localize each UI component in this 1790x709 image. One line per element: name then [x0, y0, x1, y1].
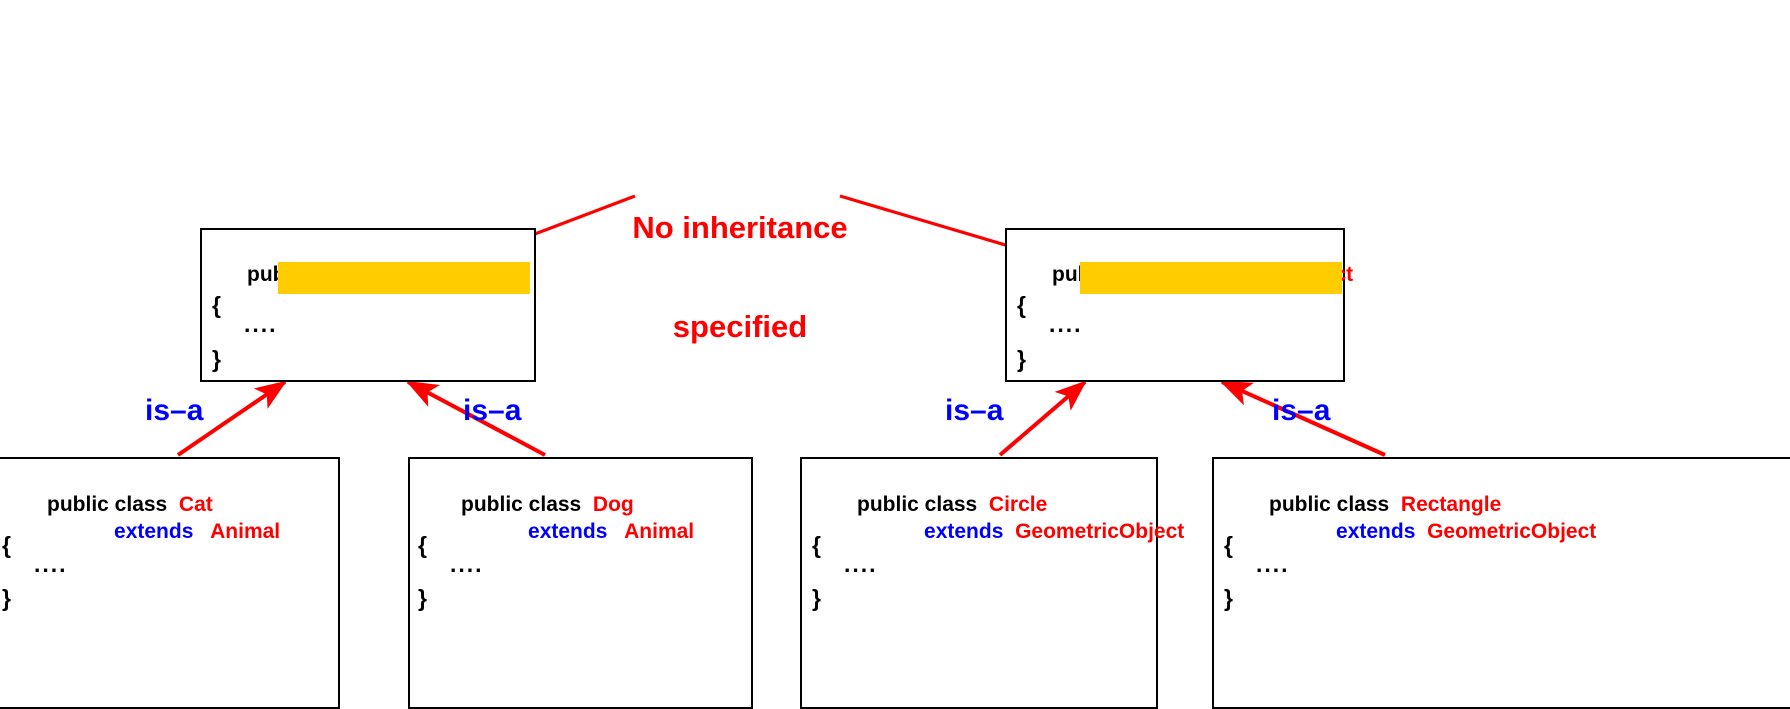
isa-label-cat: is–a: [145, 396, 203, 426]
cat-extends-name: Animal: [210, 520, 280, 543]
spacer: [1415, 520, 1427, 543]
rectangle-body-ellipsis: ....: [1256, 553, 1290, 576]
circle-open-brace: {: [812, 534, 821, 557]
rectangle-open-brace: {: [1224, 534, 1233, 557]
animal-close-brace: }: [212, 348, 221, 371]
annotation-line-1: No inheritance: [570, 211, 910, 244]
class-box-geometricobject[interactable]: public class GeometricObject { .... }: [1005, 228, 1345, 382]
dog-open-brace: {: [418, 534, 427, 557]
spacer: [193, 520, 210, 543]
rectangle-extends-keyword: extends: [1336, 520, 1415, 543]
geometricobject-close-brace: }: [1017, 348, 1026, 371]
annotation-line-2: specified: [570, 310, 910, 343]
geometricobject-body-ellipsis: ....: [1049, 313, 1083, 336]
cat-close-brace: }: [2, 587, 11, 610]
dog-close-brace: }: [418, 587, 427, 610]
highlight-band-animal: [278, 262, 530, 294]
dog-body-ellipsis: ....: [450, 553, 484, 576]
isa-label-rectangle: is–a: [1272, 396, 1330, 426]
class-box-dog[interactable]: public class Dog extends Animal { .... }: [408, 457, 753, 709]
class-box-circle[interactable]: public class Circle extends GeometricObj…: [800, 457, 1158, 709]
spacer: [1003, 520, 1015, 543]
geometricobject-open-brace: {: [1017, 294, 1026, 317]
animal-open-brace: {: [212, 294, 221, 317]
diagram-canvas: No inheritance specified public class An…: [0, 0, 1790, 702]
circle-extends-name: GeometricObject: [1015, 520, 1184, 543]
class-box-rectangle[interactable]: public class Rectangle extends Geometric…: [1212, 457, 1790, 709]
rectangle-close-brace: }: [1224, 587, 1233, 610]
circle-close-brace: }: [812, 587, 821, 610]
no-inheritance-annotation: No inheritance specified: [570, 145, 910, 409]
circle-body-ellipsis: ....: [844, 553, 878, 576]
animal-body-ellipsis: ....: [244, 313, 278, 336]
cat-body-ellipsis: ....: [34, 553, 68, 576]
dog-extends-name: Animal: [624, 520, 694, 543]
inheritance-arrow-circle-geometricobject: [1000, 382, 1085, 455]
class-box-cat[interactable]: public class Cat extends Animal { .... }: [0, 457, 340, 709]
rectangle-extends-name: GeometricObject: [1427, 520, 1596, 543]
isa-label-circle: is–a: [945, 396, 1003, 426]
cat-open-brace: {: [2, 534, 11, 557]
highlight-band-geometricobject: [1080, 262, 1342, 294]
cat-extends-keyword: extends: [114, 520, 193, 543]
dog-extends-keyword: extends: [528, 520, 607, 543]
circle-extends-keyword: extends: [924, 520, 1003, 543]
isa-label-dog: is–a: [463, 396, 521, 426]
class-box-animal[interactable]: public class Animal { .... }: [200, 228, 536, 382]
spacer: [607, 520, 624, 543]
